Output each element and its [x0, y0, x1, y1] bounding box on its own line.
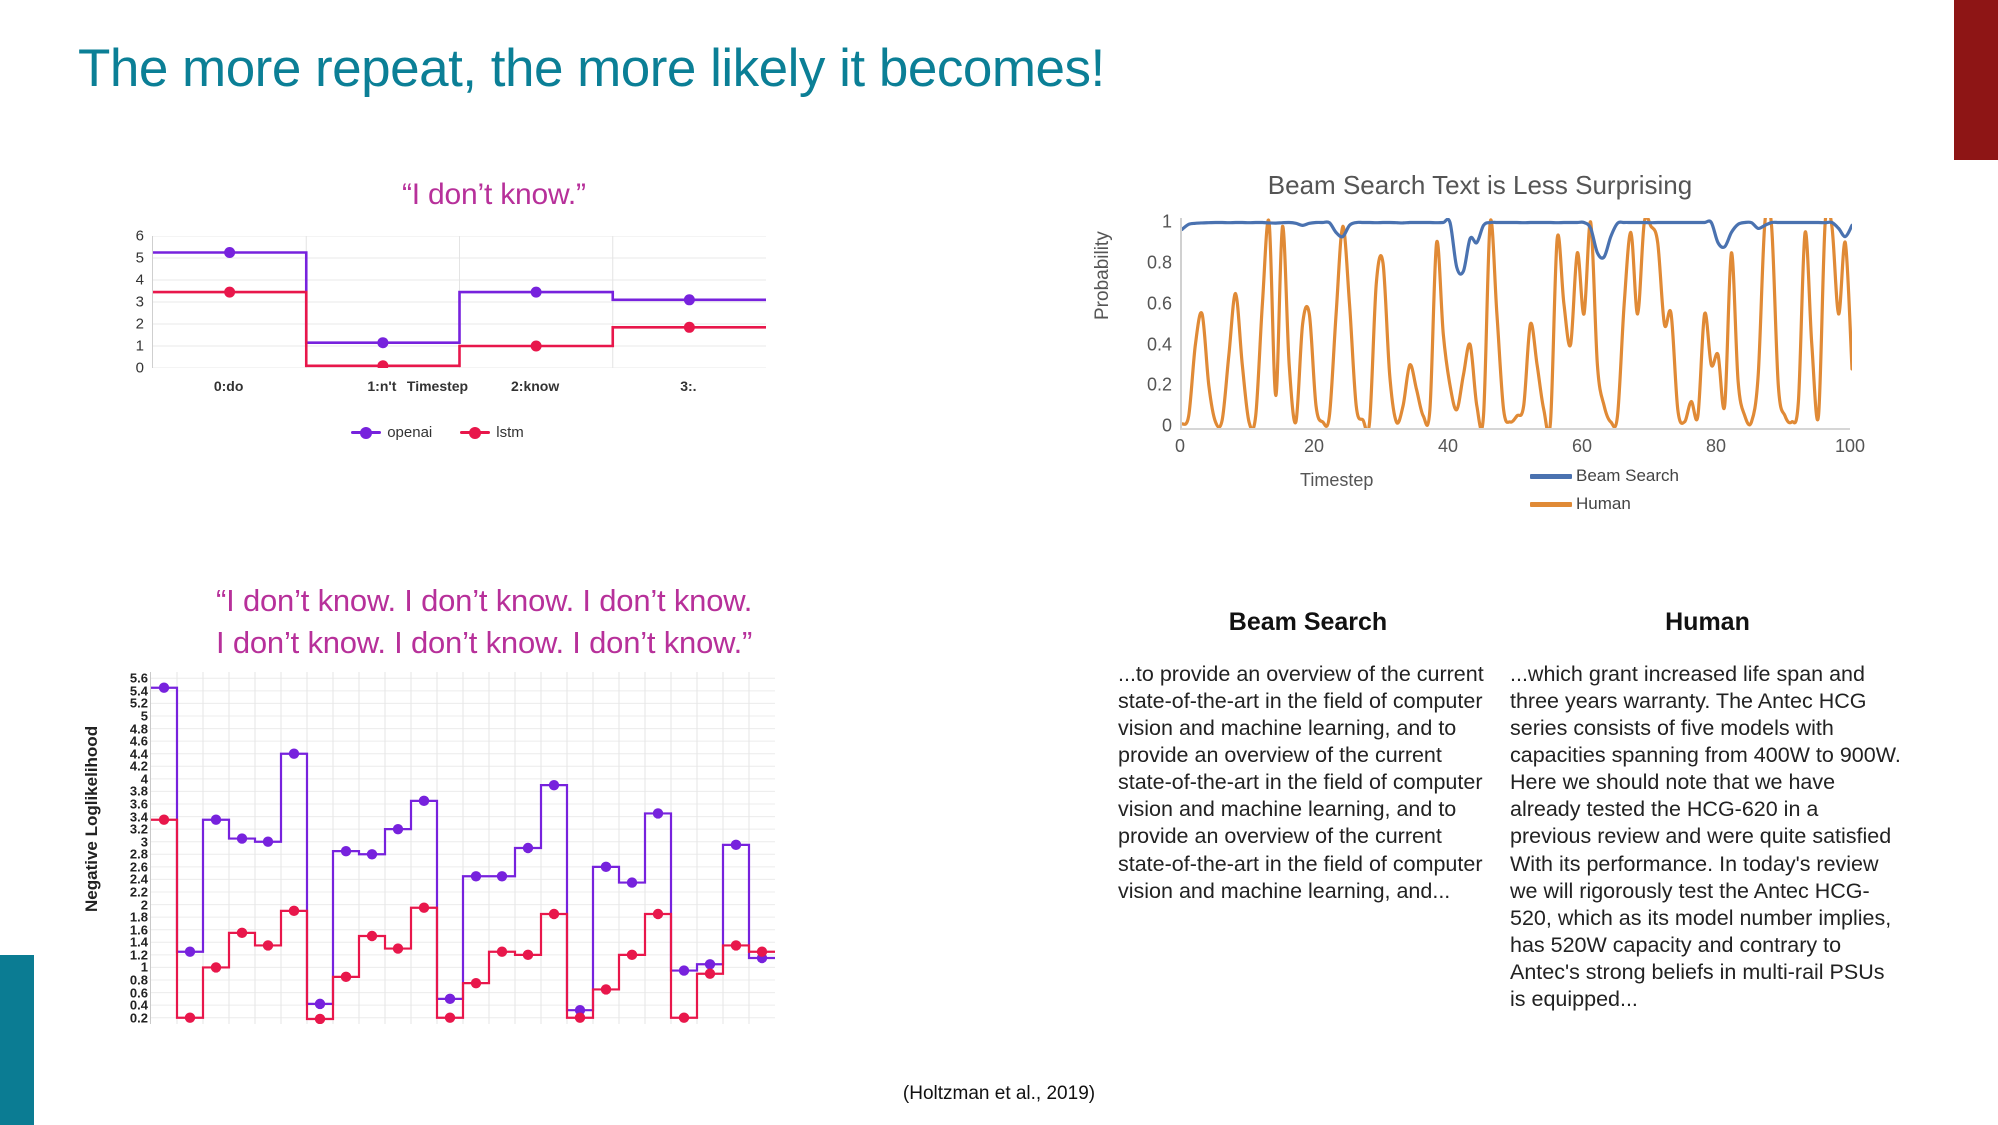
chart3-plot-area [150, 672, 774, 1024]
legend-swatch-beam-search [1530, 474, 1572, 479]
chart2-y-tick: 0.2 [1136, 375, 1172, 396]
legend-label-lstm: lstm [496, 424, 524, 441]
quote-short: “I don’t know.” [402, 178, 586, 212]
chart3-y-axis-label: Negative Loglikelihood [82, 726, 102, 912]
chart1-x-tick: 0:do [214, 378, 244, 394]
chart2-svg [1182, 218, 1852, 428]
chart-openai-lstm-short: Timestep openai lstm 01234560:do1:n't2:k… [110, 228, 765, 398]
column-heading-beam-search: Beam Search [1118, 608, 1498, 637]
chart2-x-axis-label: Timestep [1300, 470, 1373, 491]
chart2-x-tick: 40 [1438, 436, 1458, 457]
chart2-y-tick: 0.8 [1136, 253, 1172, 274]
column-human: Human ...which grant increased life span… [1510, 608, 1905, 1013]
chart1-y-tick: 1 [110, 338, 144, 355]
chart1-plot-area [152, 236, 765, 368]
decorative-right-bar [1954, 0, 1998, 160]
legend-swatch-lstm [460, 431, 490, 434]
chart2-y-tick: 1 [1136, 212, 1172, 233]
chart2-legend: Beam Search Human [1530, 466, 1679, 522]
chart2-x-tick: 20 [1304, 436, 1324, 457]
column-text-beam-search: ...to provide an overview of the current… [1118, 661, 1498, 905]
chart-openai-lstm-repeat: Negative Loglikelihood 5.65.45.254.84.64… [84, 672, 774, 1077]
chart2-x-tick: 80 [1706, 436, 1726, 457]
chart2-y-tick: 0 [1136, 416, 1172, 437]
legend-item-beam-search[interactable]: Beam Search [1530, 466, 1679, 486]
chart1-y-tick: 4 [110, 272, 144, 289]
chart2-x-tick: 60 [1572, 436, 1592, 457]
citation: (Holtzman et al., 2019) [0, 1083, 1998, 1105]
page-title: The more repeat, the more likely it beco… [78, 40, 1105, 98]
chart2-x-tick: 0 [1175, 436, 1185, 457]
chart1-svg [153, 236, 766, 368]
column-beam-search: Beam Search ...to provide an overview of… [1118, 608, 1498, 905]
legend-item-human[interactable]: Human [1530, 494, 1679, 514]
chart2-y-tick: 0.6 [1136, 293, 1172, 314]
legend-label-beam-search: Beam Search [1576, 466, 1679, 486]
chart1-x-tick: 2:know [511, 378, 559, 394]
legend-item-openai[interactable]: openai [351, 424, 432, 441]
chart2-y-axis-label: Probability [1092, 231, 1114, 320]
chart1-y-tick: 6 [110, 228, 144, 245]
column-heading-human: Human [1510, 608, 1905, 637]
chart2-x-tick: 100 [1835, 436, 1865, 457]
chart2-plot-area [1180, 218, 1850, 430]
chart1-x-tick: 3:. [680, 378, 696, 394]
chart1-y-tick: 3 [110, 294, 144, 311]
legend-label-openai: openai [387, 424, 432, 441]
chart-beam-search: Beam Search Text is Less Surprising Prob… [1100, 170, 1860, 480]
chart3-svg [151, 672, 775, 1024]
chart2-title: Beam Search Text is Less Surprising [1100, 170, 1860, 201]
column-text-human: ...which grant increased life span and t… [1510, 661, 1905, 1013]
chart1-x-tick: 1:n't [367, 378, 396, 394]
chart1-legend: openai lstm [110, 424, 765, 441]
chart1-x-axis-label: Timestep [110, 378, 765, 394]
chart1-y-tick: 0 [110, 360, 144, 377]
legend-swatch-human [1530, 502, 1572, 507]
legend-label-human: Human [1576, 494, 1631, 514]
legend-swatch-openai [351, 431, 381, 434]
legend-item-lstm[interactable]: lstm [460, 424, 524, 441]
quote-long: “I don’t know. I don’t know. I don’t kno… [216, 580, 752, 664]
chart2-y-tick: 0.4 [1136, 334, 1172, 355]
slide-canvas: The more repeat, the more likely it beco… [0, 0, 1998, 1125]
chart1-y-tick: 5 [110, 250, 144, 267]
chart3-y-ticks: 5.65.45.254.84.64.44.243.83.63.43.232.82… [104, 672, 148, 1022]
chart3-y-tick: 0.2 [130, 1010, 148, 1025]
chart1-y-tick: 2 [110, 316, 144, 333]
